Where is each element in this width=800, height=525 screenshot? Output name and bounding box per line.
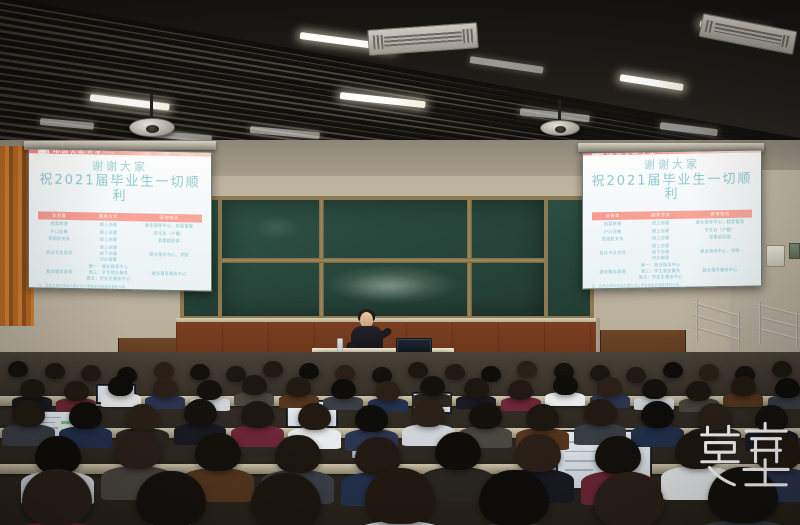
table-row: 就业服务咨询周一：就业指导中心周三：学生就业服务周五：毕业生服务中心就业指导服务… bbox=[38, 262, 202, 283]
audience-member-head bbox=[469, 402, 502, 429]
audience-member-head bbox=[64, 381, 89, 401]
audience-member-head bbox=[584, 399, 617, 426]
table-cell: 档案转递 bbox=[38, 220, 81, 227]
audience-member-head bbox=[517, 361, 537, 377]
table-row: 协议书及合同线上办理线下办理代办邮寄就业指导中心、学院 bbox=[592, 241, 752, 262]
audience-member-head bbox=[81, 365, 101, 381]
table-cell: 周一：就业指导中心周三：学生就业服务周五：毕业生服务中心 bbox=[81, 263, 137, 282]
audience-member-head bbox=[242, 375, 267, 395]
audience-member-head bbox=[197, 380, 222, 400]
audience-member-head bbox=[515, 434, 561, 472]
table-cell: 线上办理 bbox=[81, 221, 137, 228]
table-cell: 档案转递 bbox=[592, 221, 634, 228]
audience-member-head bbox=[755, 433, 800, 471]
slide-table-right: 业务类 服务方式 咨询电话 档案转递线上办理就业指导中心，档案管理户口迁移线上办… bbox=[592, 209, 752, 288]
table-cell: 就业指导中心，档案管理 bbox=[136, 222, 202, 229]
audience-member-head bbox=[626, 367, 646, 383]
table-cell: 党委组织部 bbox=[688, 234, 752, 241]
audience-member-head bbox=[263, 361, 283, 377]
slide-left: 中国人民大学 RENMIN UNIVERSITY OF CHINA 谢谢大家 祝… bbox=[29, 149, 211, 290]
audience-member-head bbox=[708, 467, 778, 523]
audience-member-head bbox=[45, 363, 65, 379]
table-cell: 就业指导中心，档案管理 bbox=[688, 219, 752, 226]
table-cell: 线上办理 bbox=[634, 235, 688, 242]
audience-member-head bbox=[595, 436, 641, 474]
table-header-cell: 业务类 bbox=[592, 212, 634, 219]
audience-member-head bbox=[464, 378, 489, 398]
audience-member-head bbox=[642, 379, 667, 399]
table-cell: 就业指导服务中心 bbox=[688, 267, 752, 274]
audience-member-head bbox=[686, 381, 711, 401]
table-cell: 就业指导中心、学院 bbox=[688, 247, 752, 254]
audience-member-head bbox=[435, 432, 481, 470]
table-cell: 就业指导中心、学院 bbox=[136, 251, 202, 258]
audience-member-head bbox=[153, 378, 178, 398]
audience-member-head bbox=[597, 377, 622, 397]
table-cell: 学生处（户籍） bbox=[688, 226, 752, 233]
audience-member-head bbox=[154, 362, 174, 378]
audience-member-body bbox=[631, 425, 684, 447]
ceiling-light-strip bbox=[619, 74, 683, 91]
audience-member-head bbox=[526, 404, 559, 431]
audience-member-head bbox=[508, 380, 533, 400]
table-row: 协议书及合同线上办理线下办理代办邮寄就业指导中心、学院 bbox=[38, 243, 202, 264]
table-cell: 线上办理 bbox=[634, 227, 688, 234]
audience-member-head bbox=[375, 381, 400, 401]
table-cell: 党委组织部 bbox=[136, 237, 202, 244]
ceiling-projector-right bbox=[540, 120, 580, 136]
table-cell: 线上办理 bbox=[81, 229, 137, 236]
audience-member-head bbox=[675, 431, 721, 469]
water-bottle-podium bbox=[337, 338, 343, 352]
audience-member-head bbox=[772, 361, 792, 377]
audience-member-head bbox=[355, 405, 388, 432]
audience-member-head bbox=[251, 473, 321, 525]
table-header-cell: 服务方式 bbox=[81, 213, 137, 220]
table-cell: 户口迁移 bbox=[592, 228, 634, 235]
audience-member-head bbox=[731, 376, 756, 396]
audience-member-head bbox=[775, 378, 800, 398]
audience-member-head bbox=[115, 431, 161, 469]
slide-right: 中国人民大学 RENMIN UNIVERSITY OF CHINA 谢谢大家 祝… bbox=[583, 150, 761, 288]
audience-member-head bbox=[699, 364, 719, 380]
audience-member-head bbox=[298, 403, 331, 430]
audience-area bbox=[0, 352, 800, 525]
audience-member-head bbox=[408, 362, 428, 378]
slide-table-left: 业务类 服务方式 咨询电话 档案转递线上办理就业指导中心，档案管理户口迁移线上办… bbox=[38, 211, 202, 291]
table-cell: 周一：就业指导中心周三：学生就业服务周五：毕业生服务中心 bbox=[634, 262, 688, 281]
ceiling-projector-left bbox=[129, 118, 175, 137]
audience-member-head bbox=[286, 377, 311, 397]
table-row: 就业服务咨询周一：就业指导中心周三：学生就业服务周五：毕业生服务中心就业指导服务… bbox=[592, 261, 752, 282]
audience-member-head bbox=[69, 402, 102, 429]
audience-member-head bbox=[8, 361, 28, 377]
slide-title-line1: 谢谢大家 bbox=[590, 157, 754, 172]
table-cell: 协议书及合同 bbox=[38, 249, 81, 256]
table-header-cell: 服务方式 bbox=[634, 211, 688, 218]
table-cell: 就业指导服务中心 bbox=[136, 270, 202, 277]
audience-member-head bbox=[20, 379, 45, 399]
audience-member-head bbox=[445, 364, 465, 380]
audience-member-head bbox=[22, 469, 92, 525]
stair-railing-right bbox=[758, 300, 800, 348]
table-header-cell: 业务类 bbox=[38, 212, 81, 219]
audience-member-head bbox=[365, 468, 435, 524]
slide-title-line2: 祝2021届毕业生一切顺利 bbox=[36, 174, 203, 207]
audience-member-head bbox=[184, 399, 217, 426]
lecture-hall-photo: 中国人民大学 RENMIN UNIVERSITY OF CHINA 谢谢大家 祝… bbox=[0, 0, 800, 525]
audience-member-head bbox=[553, 375, 578, 395]
table-cell: 就业服务咨询 bbox=[592, 269, 634, 276]
audience-member-head bbox=[698, 403, 731, 430]
ceiling bbox=[0, 0, 800, 152]
audience-member-head bbox=[190, 364, 210, 380]
slide-title-block-right: 谢谢大家 祝2021届毕业生一切顺利 bbox=[583, 152, 761, 207]
wall-mounted-box bbox=[789, 243, 800, 259]
left-projection-screen: 中国人民大学 RENMIN UNIVERSITY OF CHINA 谢谢大家 祝… bbox=[28, 148, 212, 292]
table-cell: 学生处（户籍） bbox=[136, 230, 202, 237]
audience-member-head bbox=[331, 379, 356, 399]
blackboard bbox=[218, 196, 548, 320]
ceiling-air-vent-right bbox=[699, 13, 798, 55]
stair-railing-left bbox=[694, 296, 742, 346]
audience-member-head bbox=[412, 400, 445, 427]
table-cell: 协议书及合同 bbox=[592, 249, 634, 256]
table-cell: 线上办理线下办理代办邮寄 bbox=[81, 244, 137, 263]
audience-member-head bbox=[479, 470, 549, 525]
table-cell: 线上办理 bbox=[81, 236, 137, 243]
table-cell: 党组织关系 bbox=[592, 236, 634, 243]
audience-member-head bbox=[275, 435, 321, 473]
table-cell: 就业服务咨询 bbox=[38, 268, 81, 275]
table-cell: 线上办理 bbox=[634, 220, 688, 227]
table-cell: 党组织关系 bbox=[38, 235, 81, 242]
slide-title-line2: 祝2021届毕业生一切顺利 bbox=[590, 172, 754, 205]
audience-member-head bbox=[195, 433, 241, 471]
table-cell: 线上办理线下办理代办邮寄 bbox=[634, 242, 688, 261]
audience-member-head bbox=[126, 404, 159, 431]
audience-member-head bbox=[663, 362, 683, 378]
audience-member-body bbox=[231, 425, 284, 447]
audience-member-head bbox=[641, 401, 674, 428]
audience-member-head bbox=[241, 401, 274, 428]
table-cell: 户口迁移 bbox=[38, 228, 81, 235]
audience-member-head bbox=[108, 376, 133, 396]
audience-member-head bbox=[594, 472, 664, 525]
table-header-cell: 咨询电话 bbox=[136, 214, 202, 221]
audience-member-head bbox=[755, 405, 788, 432]
right-projection-screen: 中国人民大学 RENMIN UNIVERSITY OF CHINA 谢谢大家 祝… bbox=[582, 149, 762, 289]
table-header-cell: 咨询电话 bbox=[688, 210, 752, 217]
ceiling-light-strip bbox=[469, 56, 543, 74]
av-control-panel[interactable] bbox=[766, 245, 785, 267]
ceiling-air-vent-center bbox=[367, 22, 479, 56]
slide-title-block-left: 谢谢大家 祝2021届毕业生一切顺利 bbox=[29, 154, 211, 209]
audience-member-head bbox=[420, 376, 445, 396]
audience-member-head bbox=[12, 400, 45, 427]
